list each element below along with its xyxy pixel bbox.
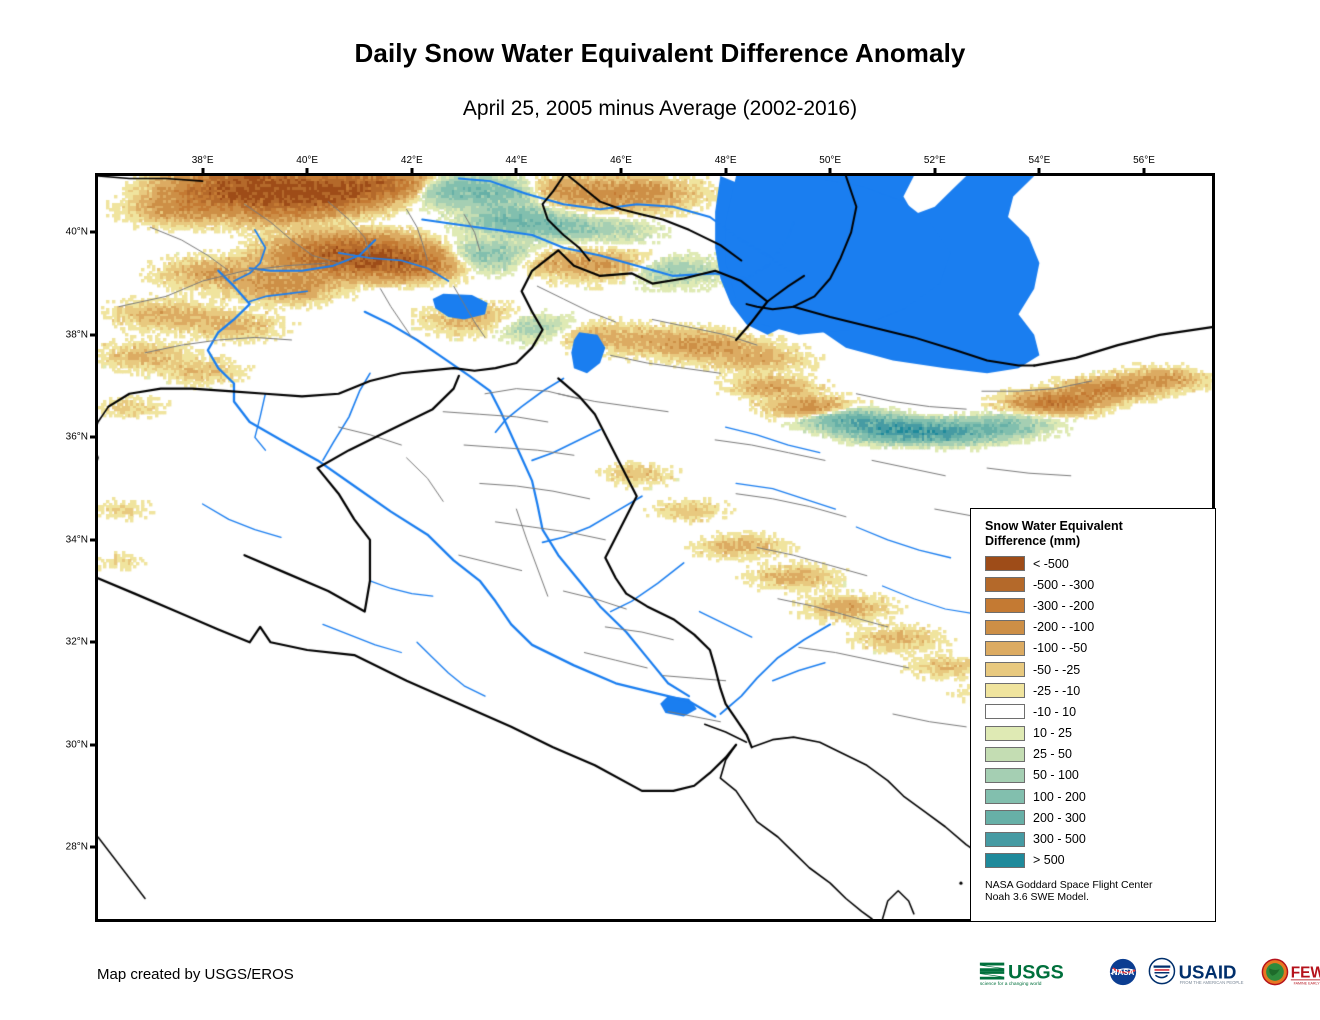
svg-text:FAMINE EARLY WARNING SYSTEMS N: FAMINE EARLY WARNING SYSTEMS NETWORK bbox=[1294, 982, 1320, 986]
svg-text:USGS: USGS bbox=[1008, 962, 1064, 984]
lat-tick-label: 34°N bbox=[52, 534, 88, 545]
svg-text:FROM THE AMERICAN PEOPLE: FROM THE AMERICAN PEOPLE bbox=[1180, 980, 1244, 985]
legend-swatch bbox=[985, 853, 1025, 868]
legend-swatch bbox=[985, 747, 1025, 762]
legend-row: -50 - -25 bbox=[985, 659, 1215, 680]
lon-tick-label: 40°E bbox=[296, 155, 318, 166]
lat-tick-label: 32°N bbox=[52, 637, 88, 648]
legend-swatch bbox=[985, 556, 1025, 571]
legend-swatch bbox=[985, 832, 1025, 847]
map-page: Daily Snow Water Equivalent Difference A… bbox=[0, 0, 1320, 1020]
legend-swatch bbox=[985, 768, 1025, 783]
legend-row: -200 - -100 bbox=[985, 617, 1215, 638]
legend-row: -100 - -50 bbox=[985, 638, 1215, 659]
legend-label: 200 - 300 bbox=[1033, 811, 1086, 825]
legend-swatch bbox=[985, 810, 1025, 825]
legend-title-line2: Difference (mm) bbox=[985, 534, 1195, 549]
legend-swatch bbox=[985, 620, 1025, 635]
legend-swatch bbox=[985, 704, 1025, 719]
legend-swatch bbox=[985, 662, 1025, 677]
lat-tick-label: 30°N bbox=[52, 739, 88, 750]
page-subtitle: April 25, 2005 minus Average (2002-2016) bbox=[0, 97, 1320, 121]
legend-source-line1: NASA Goddard Space Flight Center bbox=[985, 879, 1215, 892]
svg-text:science for a changing world: science for a changing world bbox=[980, 981, 1042, 987]
lat-tick-label: 40°N bbox=[52, 227, 88, 238]
legend-label: 50 - 100 bbox=[1033, 768, 1079, 782]
legend-row: -300 - -200 bbox=[985, 595, 1215, 616]
legend-row: 200 - 300 bbox=[985, 807, 1215, 828]
legend-label: -200 - -100 bbox=[1033, 620, 1094, 634]
lon-tick-label: 54°E bbox=[1029, 155, 1051, 166]
legend-label: 25 - 50 bbox=[1033, 747, 1072, 761]
legend-label: 300 - 500 bbox=[1033, 832, 1086, 846]
legend-label: -500 - -300 bbox=[1033, 578, 1094, 592]
lon-tick-label: 38°E bbox=[192, 155, 214, 166]
legend-row: 25 - 50 bbox=[985, 744, 1215, 765]
legend-row: 300 - 500 bbox=[985, 828, 1215, 849]
legend-label: > 500 bbox=[1033, 853, 1065, 867]
legend-swatch bbox=[985, 726, 1025, 741]
page-title: Daily Snow Water Equivalent Difference A… bbox=[0, 38, 1320, 69]
usgs-logo: USGS science for a changing world bbox=[978, 957, 1098, 987]
lat-tick-label: 36°N bbox=[52, 432, 88, 443]
legend-title: Snow Water Equivalent Difference (mm) bbox=[985, 519, 1195, 549]
legend-class-list: < -500-500 - -300-300 - -200-200 - -100-… bbox=[985, 553, 1215, 871]
lon-tick-label: 44°E bbox=[505, 155, 527, 166]
fewsnet-logo: FEWS NET FAMINE EARLY WARNING SYSTEMS NE… bbox=[1261, 957, 1320, 987]
map-legend: Snow Water Equivalent Difference (mm) < … bbox=[970, 508, 1216, 922]
legend-row: 100 - 200 bbox=[985, 786, 1215, 807]
legend-label: -100 - -50 bbox=[1033, 641, 1087, 655]
legend-row: < -500 bbox=[985, 553, 1215, 574]
map-credit: Map created by USGS/EROS bbox=[97, 966, 294, 983]
legend-swatch bbox=[985, 598, 1025, 613]
lat-tick-label: 28°N bbox=[52, 842, 88, 853]
nasa-logo: NASA bbox=[1107, 957, 1139, 987]
legend-source: NASA Goddard Space Flight Center Noah 3.… bbox=[985, 879, 1215, 904]
legend-row: -25 - -10 bbox=[985, 680, 1215, 701]
legend-label: -50 - -25 bbox=[1033, 663, 1080, 677]
lat-tick-label: 38°N bbox=[52, 329, 88, 340]
legend-row: -500 - -300 bbox=[985, 574, 1215, 595]
legend-label: 10 - 25 bbox=[1033, 726, 1072, 740]
legend-row: 50 - 100 bbox=[985, 765, 1215, 786]
legend-label: -25 - -10 bbox=[1033, 684, 1080, 698]
legend-swatch bbox=[985, 683, 1025, 698]
legend-title-line1: Snow Water Equivalent bbox=[985, 519, 1195, 534]
lon-tick-label: 46°E bbox=[610, 155, 632, 166]
legend-label: < -500 bbox=[1033, 557, 1069, 571]
svg-text:FEWS NET: FEWS NET bbox=[1291, 965, 1320, 982]
legend-row: > 500 bbox=[985, 850, 1215, 871]
lon-tick-label: 52°E bbox=[924, 155, 946, 166]
logo-strip: USGS science for a changing world NASA U… bbox=[978, 956, 1320, 988]
lon-tick-label: 56°E bbox=[1133, 155, 1155, 166]
legend-label: -300 - -200 bbox=[1033, 599, 1094, 613]
legend-label: -10 - 10 bbox=[1033, 705, 1076, 719]
lon-tick-label: 50°E bbox=[819, 155, 841, 166]
lon-tick-label: 48°E bbox=[715, 155, 737, 166]
legend-label: 100 - 200 bbox=[1033, 790, 1086, 804]
legend-row: -10 - 10 bbox=[985, 701, 1215, 722]
legend-swatch bbox=[985, 577, 1025, 592]
usaid-logo: USAID FROM THE AMERICAN PEOPLE bbox=[1148, 957, 1252, 987]
legend-swatch bbox=[985, 641, 1025, 656]
legend-row: 10 - 25 bbox=[985, 723, 1215, 744]
svg-text:NASA: NASA bbox=[1112, 968, 1135, 977]
lon-tick-label: 42°E bbox=[401, 155, 423, 166]
legend-source-line2: Noah 3.6 SWE Model. bbox=[985, 891, 1215, 904]
legend-swatch bbox=[985, 789, 1025, 804]
